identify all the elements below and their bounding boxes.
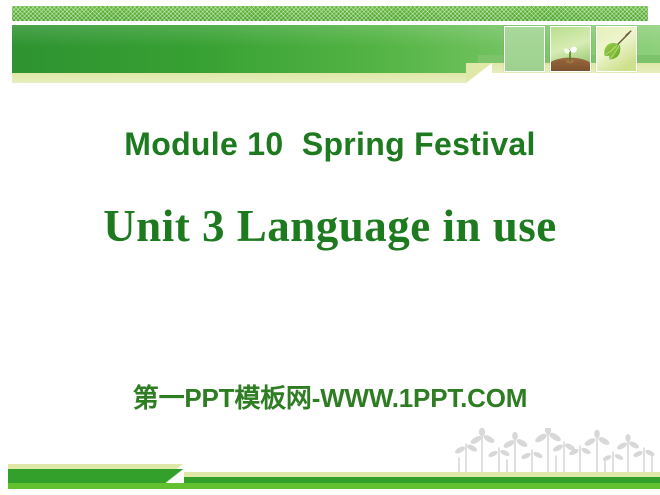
presentation-slide: Module 10 Spring Festival Unit 3 Languag… xyxy=(0,0,660,495)
site-watermark: 第一PPT模板网-WWW.1PPT.COM xyxy=(0,378,660,415)
header-lip-left xyxy=(12,73,490,83)
unit-title: Unit 3 Language in use xyxy=(0,200,660,252)
blank-green-thumbnail xyxy=(504,26,545,72)
footer-band-left xyxy=(8,469,174,483)
seedling-soil-thumbnail xyxy=(550,26,591,72)
top-texture-strip xyxy=(12,6,648,21)
footer-band-step xyxy=(166,469,184,483)
footer-bright-rule xyxy=(8,483,660,489)
module-title: Module 10 Spring Festival xyxy=(0,126,660,163)
header-thumbnail-group xyxy=(504,26,637,72)
grass-silhouette-decoration xyxy=(452,428,660,473)
green-leaves-thumbnail xyxy=(596,26,637,72)
header-step-bevel xyxy=(466,63,492,83)
